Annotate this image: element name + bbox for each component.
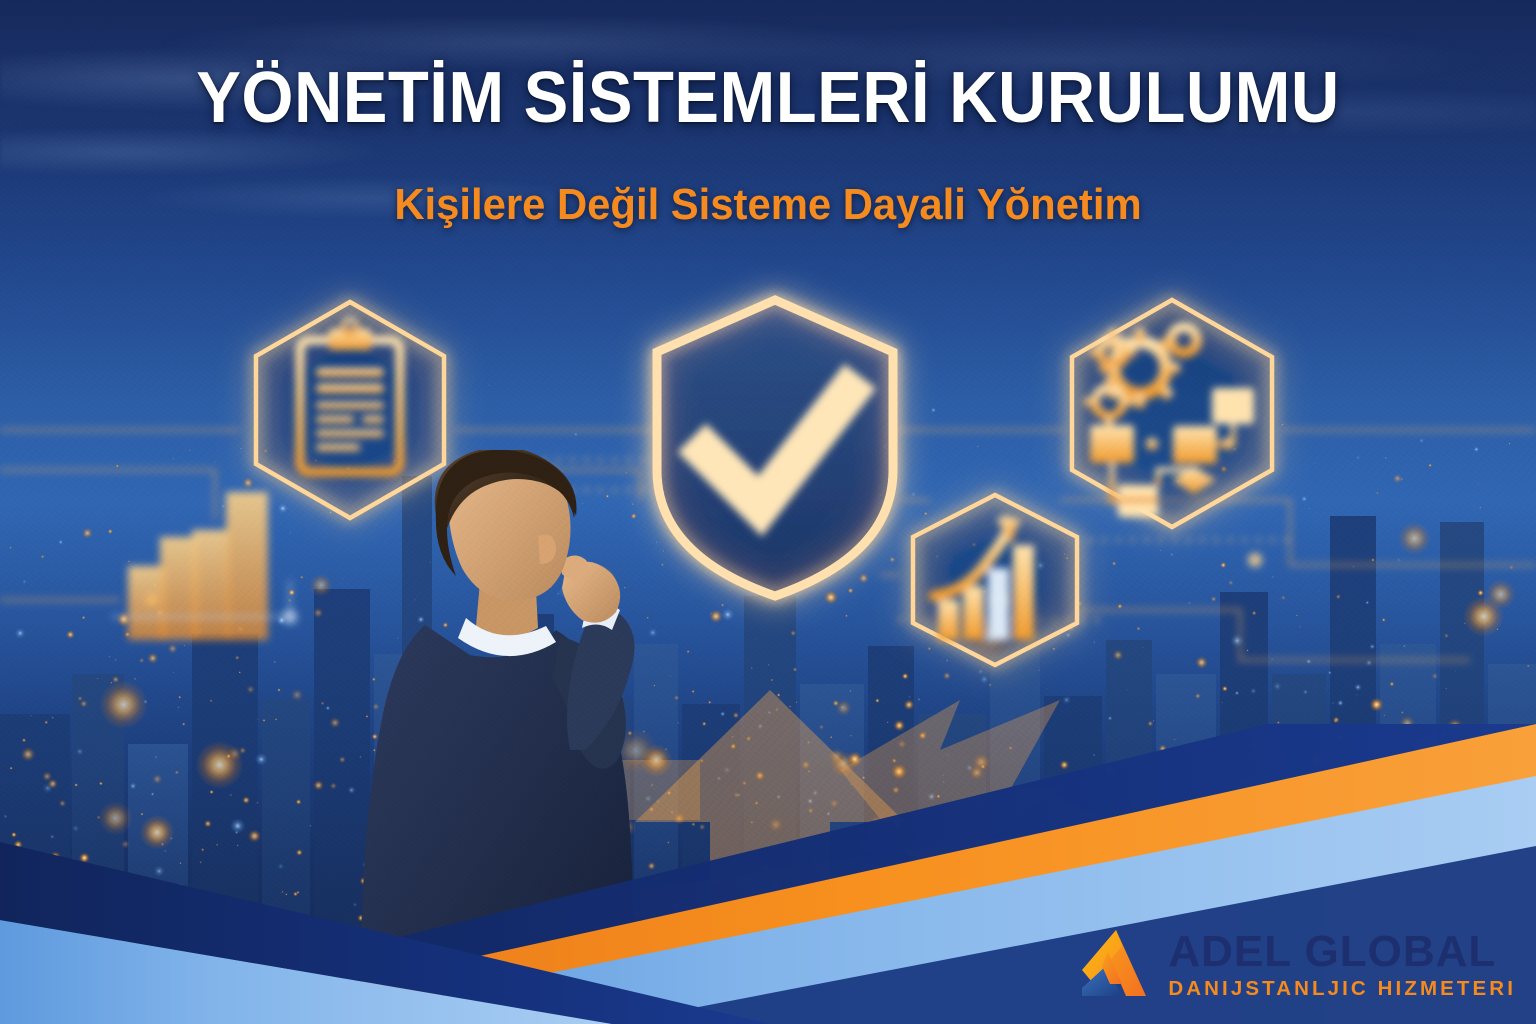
brand-tagline: DANIJSTANLJIC HIZMETERI (1168, 979, 1516, 1000)
brand-logo[interactable]: ADEL GLOBAL DANIJSTANLJIC HIZMETERI (1076, 926, 1516, 1004)
brand-text-block: ADEL GLOBAL DANIJSTANLJIC HIZMETERI (1168, 930, 1516, 1000)
brand-name: ADEL GLOBAL (1168, 930, 1516, 974)
page-title: YÖNETİM SİSTEMLERİ KURULUMU (54, 62, 1482, 134)
page-subtitle: Kişilere Değil Sisteme Dayali Yŏnetim (38, 183, 1497, 227)
poster-canvas: YÖNETİM SİSTEMLERİ KURULUMU Kişilere Değ… (0, 0, 1536, 1024)
adel-global-logo-mark (1076, 926, 1154, 1004)
